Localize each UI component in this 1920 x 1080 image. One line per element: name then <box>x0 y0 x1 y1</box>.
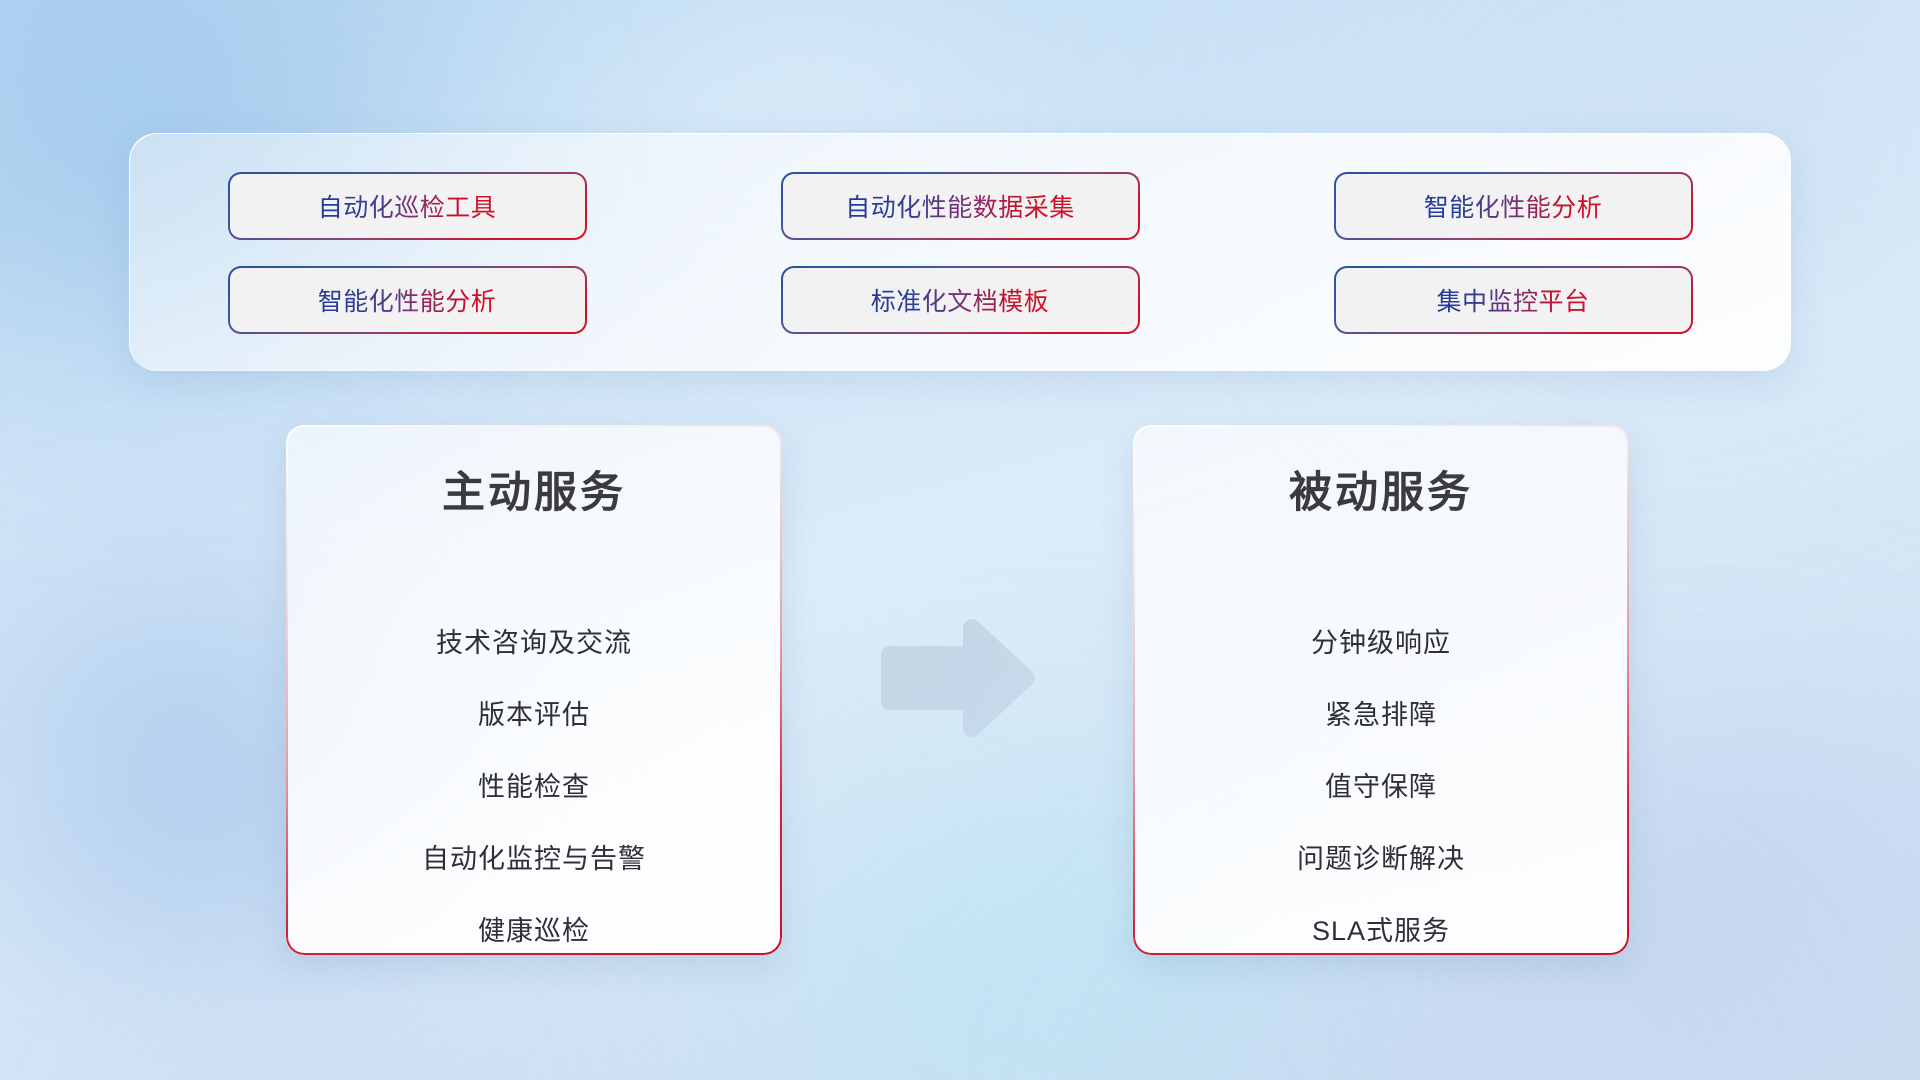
capability-pill-label: 自动化性能数据采集 <box>845 188 1075 224</box>
capability-pill-2[interactable]: 自动化性能数据采集 <box>783 174 1138 238</box>
service-list-item: 值守保障 <box>1325 751 1437 823</box>
card-title: 主动服务 <box>442 458 626 520</box>
capability-pill-3[interactable]: 智能化性能分析 <box>1336 174 1691 238</box>
service-card-passive: 被动服务 分钟级响应 紧急排障 值守保障 问题诊断解决 SLA式服务 <box>1133 425 1629 955</box>
capability-pill-label: 标准化文档模板 <box>871 282 1050 318</box>
service-list-item: 健康巡检 <box>478 895 590 955</box>
capability-pill-6[interactable]: 集中监控平台 <box>1336 268 1691 332</box>
card-title: 被动服务 <box>1289 458 1473 520</box>
capability-pill-4[interactable]: 智能化性能分析 <box>230 268 585 332</box>
card-body: 主动服务 技术咨询及交流 版本评估 性能检查 自动化监控与告警 健康巡检 <box>286 425 782 955</box>
service-list-item: 版本评估 <box>478 679 590 751</box>
service-list-item: SLA式服务 <box>1312 895 1450 955</box>
service-list-item: 自动化监控与告警 <box>422 823 646 895</box>
capability-pill-1[interactable]: 自动化巡检工具 <box>230 174 585 238</box>
service-list-item: 分钟级响应 <box>1311 607 1451 679</box>
right-arrow-icon <box>873 617 1040 739</box>
capability-pill-5[interactable]: 标准化文档模板 <box>783 268 1138 332</box>
capability-panel: 自动化巡检工具 自动化性能数据采集 智能化性能分析 智能化性能分析 标准化文档模… <box>129 133 1791 371</box>
capability-pill-label: 自动化巡检工具 <box>318 188 497 224</box>
service-list-item: 技术咨询及交流 <box>436 607 632 679</box>
capability-pill-label: 智能化性能分析 <box>318 282 497 318</box>
service-item-list: 技术咨询及交流 版本评估 性能检查 自动化监控与告警 健康巡检 <box>286 607 782 955</box>
service-list-item: 性能检查 <box>478 751 590 823</box>
capability-pill-label: 智能化性能分析 <box>1424 188 1603 224</box>
service-card-active: 主动服务 技术咨询及交流 版本评估 性能检查 自动化监控与告警 健康巡检 <box>286 425 782 955</box>
capability-pill-grid: 自动化巡检工具 自动化性能数据采集 智能化性能分析 智能化性能分析 标准化文档模… <box>230 174 1691 332</box>
capability-pill-label: 集中监控平台 <box>1436 282 1589 318</box>
card-body: 被动服务 分钟级响应 紧急排障 值守保障 问题诊断解决 SLA式服务 <box>1133 425 1629 955</box>
service-list-item: 问题诊断解决 <box>1297 823 1465 895</box>
service-item-list: 分钟级响应 紧急排障 值守保障 问题诊断解决 SLA式服务 <box>1133 607 1629 955</box>
service-list-item: 紧急排障 <box>1325 679 1437 751</box>
